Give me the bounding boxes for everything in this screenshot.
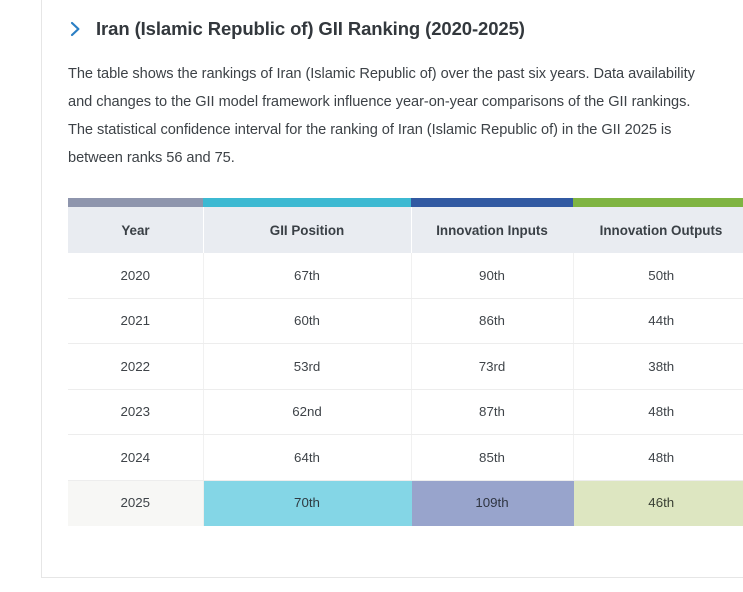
- gii-ranking-table-wrapper: Year GII Position Innovation Inputs Inno…: [68, 198, 743, 526]
- table-row-highlighted: 2025 70th 109th 46th: [68, 480, 743, 526]
- accent-bar-gii: [203, 198, 411, 207]
- column-header-gii-position: GII Position: [203, 207, 411, 253]
- cell-outputs: 50th: [573, 253, 743, 298]
- cell-outputs: 46th: [573, 480, 743, 526]
- cell-gii: 53rd: [203, 344, 411, 390]
- cell-year: 2021: [68, 298, 203, 344]
- table-accent-bars: [68, 198, 743, 207]
- table-header-row: Year GII Position Innovation Inputs Inno…: [68, 207, 743, 253]
- table-row: 2020 67th 90th 50th: [68, 253, 743, 298]
- cell-year: 2025: [68, 480, 203, 526]
- cell-year: 2024: [68, 435, 203, 481]
- table-body: 2020 67th 90th 50th 2021 60th 86th 44th: [68, 253, 743, 526]
- cell-inputs: 86th: [411, 298, 573, 344]
- intro-paragraph: The table shows the rankings of Iran (Is…: [68, 60, 708, 172]
- chevron-right-icon[interactable]: [68, 20, 82, 38]
- cell-outputs: 38th: [573, 344, 743, 390]
- table-row: 2021 60th 86th 44th: [68, 298, 743, 344]
- cell-outputs: 48th: [573, 389, 743, 435]
- cell-gii: 67th: [203, 253, 411, 298]
- table-row: 2023 62nd 87th 48th: [68, 389, 743, 435]
- table-row: 2024 64th 85th 48th: [68, 435, 743, 481]
- column-header-innovation-outputs: Innovation Outputs: [573, 207, 743, 253]
- accent-bar-outputs: [573, 198, 743, 207]
- cell-outputs: 44th: [573, 298, 743, 344]
- cell-inputs: 90th: [411, 253, 573, 298]
- cell-inputs: 73rd: [411, 344, 573, 390]
- cell-gii: 62nd: [203, 389, 411, 435]
- cell-gii: 60th: [203, 298, 411, 344]
- cell-gii: 70th: [203, 480, 411, 526]
- cell-year: 2020: [68, 253, 203, 298]
- column-header-year: Year: [68, 207, 203, 253]
- cell-outputs: 48th: [573, 435, 743, 481]
- page-title: Iran (Islamic Republic of) GII Ranking (…: [96, 18, 525, 40]
- section-header-toggle[interactable]: Iran (Islamic Republic of) GII Ranking (…: [68, 0, 743, 40]
- cell-year: 2023: [68, 389, 203, 435]
- gii-ranking-table: Year GII Position Innovation Inputs Inno…: [68, 198, 743, 526]
- column-header-innovation-inputs: Innovation Inputs: [411, 207, 573, 253]
- accent-bar-year: [68, 198, 203, 207]
- cell-inputs: 85th: [411, 435, 573, 481]
- cell-gii: 64th: [203, 435, 411, 481]
- page-root: Iran (Islamic Republic of) GII Ranking (…: [0, 0, 743, 592]
- cell-inputs: 87th: [411, 389, 573, 435]
- content-panel: Iran (Islamic Republic of) GII Ranking (…: [41, 0, 743, 578]
- cell-year: 2022: [68, 344, 203, 390]
- accent-bar-inputs: [411, 198, 573, 207]
- cell-inputs: 109th: [411, 480, 573, 526]
- table-row: 2022 53rd 73rd 38th: [68, 344, 743, 390]
